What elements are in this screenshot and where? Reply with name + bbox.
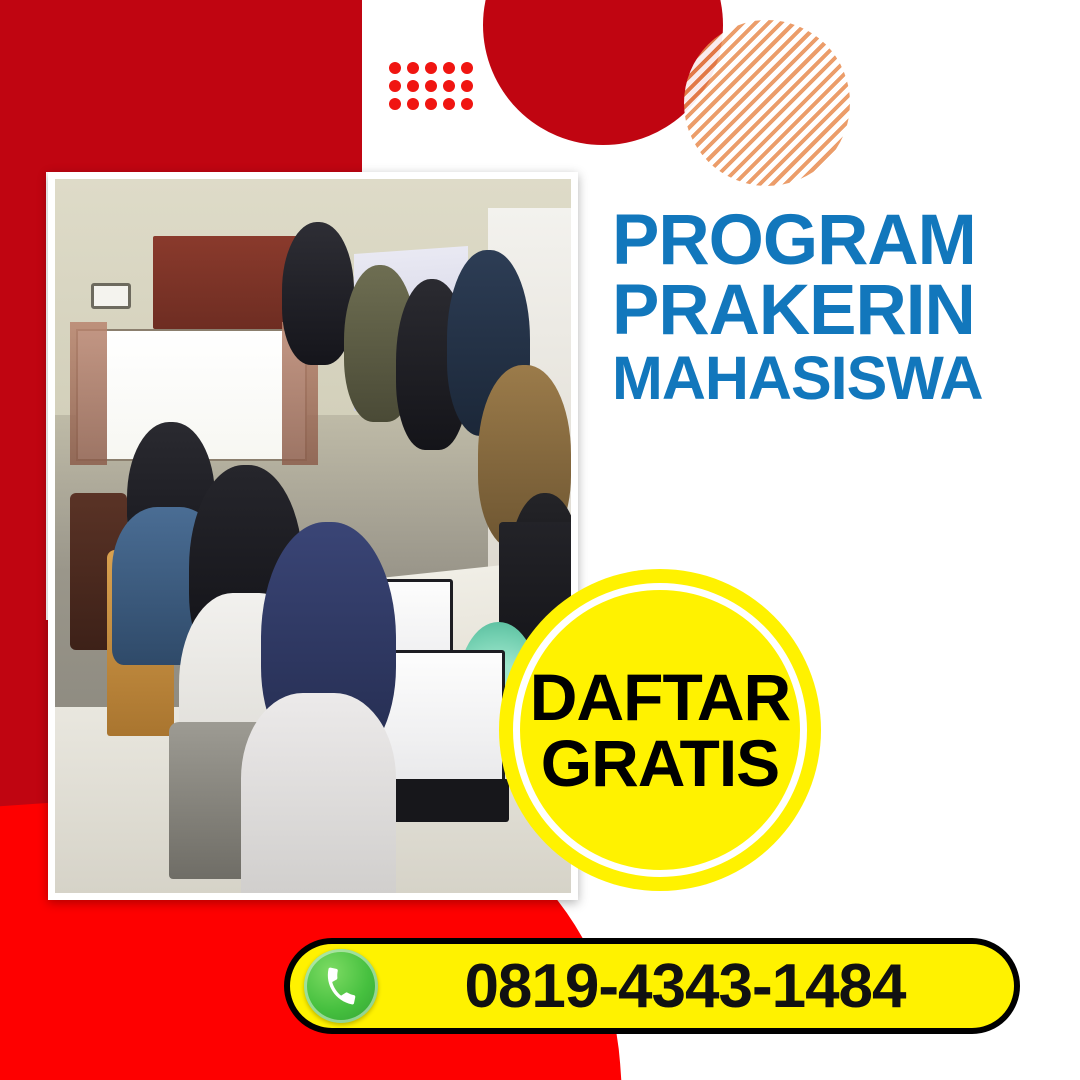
photo-curtain-left [70,322,106,465]
dot [425,80,437,92]
dot-grid-decoration [389,62,479,116]
headline-line-3: MAHASISWA [612,349,1052,409]
badge-text: DAFTAR GRATIS [499,569,821,891]
dot [425,98,437,110]
striped-circle-decoration [684,20,850,186]
red-shape-top-left [0,0,362,172]
dot [443,98,455,110]
dot [461,80,473,92]
dot [389,62,401,74]
dot [425,62,437,74]
dot [389,80,401,92]
photo-wall-vent [91,283,131,309]
dot [407,80,419,92]
poster-canvas: PROGRAM PRAKERIN MAHASISWA DAFTAR GRATIS… [0,0,1080,1080]
headline-line-2: PRAKERIN [612,276,1052,346]
photo-person [241,693,396,893]
phone-number-text: 0819-4343-1484 [378,951,1014,1022]
dot [389,98,401,110]
dot [443,62,455,74]
dot [443,80,455,92]
badge-line-1: DAFTAR [530,664,790,730]
phone-contact-pill[interactable]: 0819-4343-1484 [284,938,1020,1034]
badge-line-2: GRATIS [541,730,779,796]
headline-block: PROGRAM PRAKERIN MAHASISWA [612,206,1052,409]
dot [407,98,419,110]
dot [461,98,473,110]
dot [461,62,473,74]
headline-line-1: PROGRAM [612,206,1052,276]
dot [407,62,419,74]
training-room-photo [55,179,571,893]
daftar-gratis-badge[interactable]: DAFTAR GRATIS [499,569,821,891]
phone-handset-icon [304,949,378,1023]
